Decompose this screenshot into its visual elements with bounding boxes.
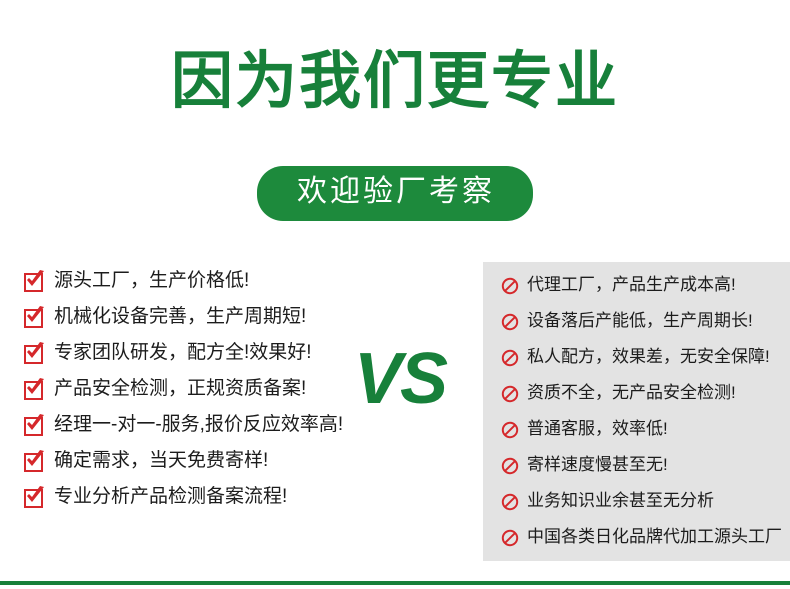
prohibited-icon <box>501 421 519 439</box>
list-item: 中国各类日化品牌代加工源头工厂 <box>501 524 790 560</box>
prohibited-icon <box>501 529 519 547</box>
badge-container: 欢迎验厂考察 <box>0 166 790 221</box>
list-item-label: 确定需求，当天免费寄样! <box>54 448 268 474</box>
checkbox-checked-icon <box>24 381 43 400</box>
welcome-inspection-badge: 欢迎验厂考察 <box>257 166 533 221</box>
list-item: 专业分析产品检测备案流程! <box>24 484 374 520</box>
list-item: 私人配方，效果差，无安全保障! <box>501 344 790 380</box>
list-item-label: 经理一-对一-服务,报价反应效率高! <box>54 412 343 438</box>
list-item-label: 普通客服，效率低! <box>527 416 668 442</box>
cons-list: 代理工厂，产品生产成本高! 设备落后产能低，生产周期长! 私人配方，效果差，无安… <box>501 272 790 560</box>
page-title: 因为我们更专业 <box>0 48 790 116</box>
vs-label: VS <box>354 343 446 415</box>
checkbox-checked-icon <box>24 489 43 508</box>
list-item-label: 业务知识业余甚至无分析 <box>527 488 714 514</box>
checkbox-checked-icon <box>24 345 43 364</box>
prohibited-icon <box>501 385 519 403</box>
list-item: 专家团队研发，配方全!效果好! <box>24 340 374 376</box>
list-item: 资质不全，无产品安全检测! <box>501 380 790 416</box>
list-item: 普通客服，效率低! <box>501 416 790 452</box>
prohibited-icon <box>501 457 519 475</box>
list-item-label: 产品安全检测，正规资质备案! <box>54 376 306 402</box>
list-item: 机械化设备完善，生产周期短! <box>24 304 374 340</box>
list-item-label: 机械化设备完善，生产周期短! <box>54 304 306 330</box>
list-item: 确定需求，当天免费寄样! <box>24 448 374 484</box>
pros-list: 源头工厂，生产价格低! 机械化设备完善，生产周期短! 专家团队研发，配方全!效果… <box>24 268 374 520</box>
checkbox-checked-icon <box>24 417 43 436</box>
list-item: 源头工厂，生产价格低! <box>24 268 374 304</box>
list-item-label: 专家团队研发，配方全!效果好! <box>54 340 312 366</box>
footer-divider <box>0 581 790 585</box>
list-item-label: 私人配方，效果差，无安全保障! <box>527 344 770 370</box>
list-item: 产品安全检测，正规资质备案! <box>24 376 374 412</box>
prohibited-icon <box>501 493 519 511</box>
checkbox-checked-icon <box>24 273 43 292</box>
list-item: 寄样速度慢甚至无! <box>501 452 790 488</box>
list-item-label: 源头工厂，生产价格低! <box>54 268 249 294</box>
list-item-label: 代理工厂，产品生产成本高! <box>527 272 736 298</box>
list-item-label: 专业分析产品检测备案流程! <box>54 484 287 510</box>
prohibited-icon <box>501 313 519 331</box>
list-item-label: 寄样速度慢甚至无! <box>527 452 668 478</box>
list-item: 经理一-对一-服务,报价反应效率高! <box>24 412 374 448</box>
list-item-label: 中国各类日化品牌代加工源头工厂 <box>527 524 782 550</box>
list-item-label: 资质不全，无产品安全检测! <box>527 380 736 406</box>
list-item: 代理工厂，产品生产成本高! <box>501 272 790 308</box>
list-item: 业务知识业余甚至无分析 <box>501 488 790 524</box>
prohibited-icon <box>501 349 519 367</box>
checkbox-checked-icon <box>24 309 43 328</box>
list-item-label: 设备落后产能低，生产周期长! <box>527 308 753 334</box>
prohibited-icon <box>501 277 519 295</box>
list-item: 设备落后产能低，生产周期长! <box>501 308 790 344</box>
checkbox-checked-icon <box>24 453 43 472</box>
